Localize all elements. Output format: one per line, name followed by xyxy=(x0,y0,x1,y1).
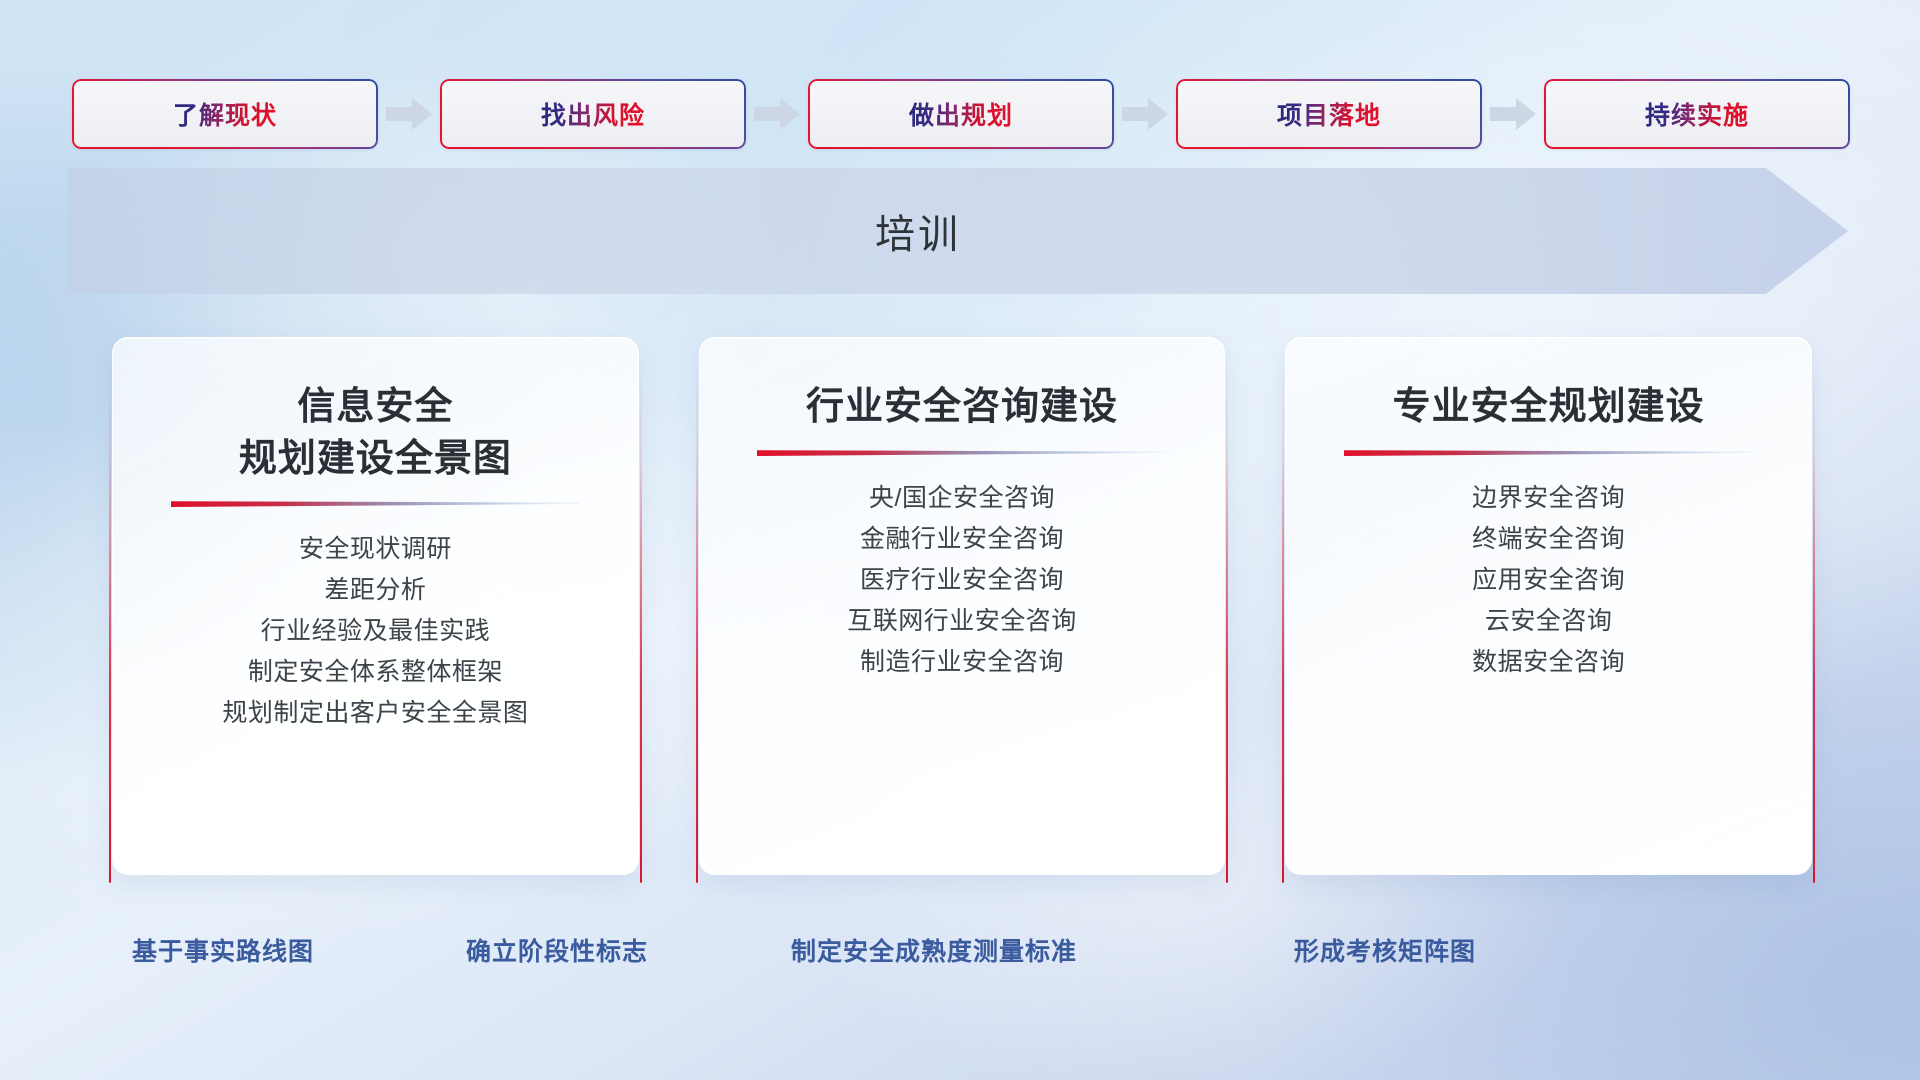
step-chip-label: 找出风险 xyxy=(541,96,645,132)
card-accent-rail-right xyxy=(1226,359,1228,883)
footer-label-1: 基于事实路线图 xyxy=(132,932,314,968)
list-item: 规划制定出客户安全全景图 xyxy=(222,693,528,734)
card-divider xyxy=(171,499,580,507)
list-item: 应用安全咨询 xyxy=(1472,560,1625,601)
card-industry-security-consulting[interactable]: 行业安全咨询建设 xyxy=(699,337,1226,875)
card-title: 信息安全 规划建设全景图 xyxy=(239,382,512,485)
card-professional-security-planning[interactable]: 专业安全规划建设 xyxy=(1285,337,1812,875)
card-info-security-blueprint[interactable]: 信息安全 规划建设全景图 xyxy=(112,337,639,875)
list-item: 安全现状调研 xyxy=(299,529,452,570)
list-item: 边界安全咨询 xyxy=(1472,478,1625,519)
step-chip-label: 了解现状 xyxy=(173,96,277,132)
step-arrow-icon-1 xyxy=(378,97,440,131)
list-item: 终端安全咨询 xyxy=(1472,519,1625,560)
step-chip-2[interactable]: 找出风险 xyxy=(440,79,746,149)
list-item: 金融行业安全咨询 xyxy=(860,519,1064,560)
card-item-list: 安全现状调研 差距分析 行业经验及最佳实践 制定安全体系整体框架 规划制定出客户… xyxy=(113,529,638,734)
card-wrap-2: 行业安全咨询建设 xyxy=(699,337,1226,875)
step-arrow-icon-3 xyxy=(1114,97,1176,131)
list-item: 制造行业安全咨询 xyxy=(860,642,1064,683)
list-item: 制定安全体系整体框架 xyxy=(248,652,503,693)
card-title: 专业安全规划建设 xyxy=(1393,382,1705,434)
training-banner: 培训 xyxy=(68,168,1848,294)
list-item: 数据安全咨询 xyxy=(1472,642,1625,683)
card-accent-rail-right xyxy=(1813,359,1815,883)
step-chip-1[interactable]: 了解现状 xyxy=(72,79,378,149)
list-item: 差距分析 xyxy=(324,570,426,611)
card-accent-rail-right xyxy=(640,359,642,883)
card-accent-rail-left xyxy=(696,359,698,883)
list-item: 云安全咨询 xyxy=(1485,601,1613,642)
step-chip-3[interactable]: 做出规划 xyxy=(808,79,1114,149)
card-wrap-1: 信息安全 规划建设全景图 xyxy=(112,337,639,875)
step-chip-label: 项目落地 xyxy=(1277,96,1381,132)
step-chip-4[interactable]: 项目落地 xyxy=(1176,79,1482,149)
card-row: 信息安全 规划建设全景图 xyxy=(112,337,1812,875)
process-step-row: 了解现状 找出风险 做出规划 项目落地 xyxy=(72,78,1848,150)
slide-canvas: 了解现状 找出风险 做出规划 项目落地 xyxy=(0,0,1920,1080)
footer-label-3: 制定安全成熟度测量标准 xyxy=(791,932,1077,968)
card-accent-rail-left xyxy=(1282,359,1284,883)
footer-label-4: 形成考核矩阵图 xyxy=(1294,932,1476,968)
step-chip-label: 持续实施 xyxy=(1645,96,1749,132)
card-item-list: 边界安全咨询 终端安全咨询 应用安全咨询 云安全咨询 数据安全咨询 xyxy=(1286,478,1811,683)
card-divider xyxy=(757,448,1166,456)
step-chip-5[interactable]: 持续实施 xyxy=(1544,79,1850,149)
step-arrow-icon-2 xyxy=(746,97,808,131)
list-item: 央/国企安全咨询 xyxy=(869,478,1055,519)
card-divider xyxy=(1344,448,1753,456)
card-title: 行业安全咨询建设 xyxy=(806,382,1118,434)
step-chip-label: 做出规划 xyxy=(909,96,1013,132)
card-item-list: 央/国企安全咨询 金融行业安全咨询 医疗行业安全咨询 互联网行业安全咨询 制造行… xyxy=(700,478,1225,683)
step-arrow-icon-4 xyxy=(1482,97,1544,131)
footer-label-2: 确立阶段性标志 xyxy=(466,932,648,968)
list-item: 互联网行业安全咨询 xyxy=(847,601,1077,642)
training-banner-label: 培训 xyxy=(68,168,1768,294)
footer-label-row: 基于事实路线图 确立阶段性标志 制定安全成熟度测量标准 形成考核矩阵图 xyxy=(0,932,1920,976)
card-wrap-3: 专业安全规划建设 xyxy=(1285,337,1812,875)
card-accent-rail-left xyxy=(109,359,111,883)
list-item: 行业经验及最佳实践 xyxy=(261,611,491,652)
list-item: 医疗行业安全咨询 xyxy=(860,560,1064,601)
